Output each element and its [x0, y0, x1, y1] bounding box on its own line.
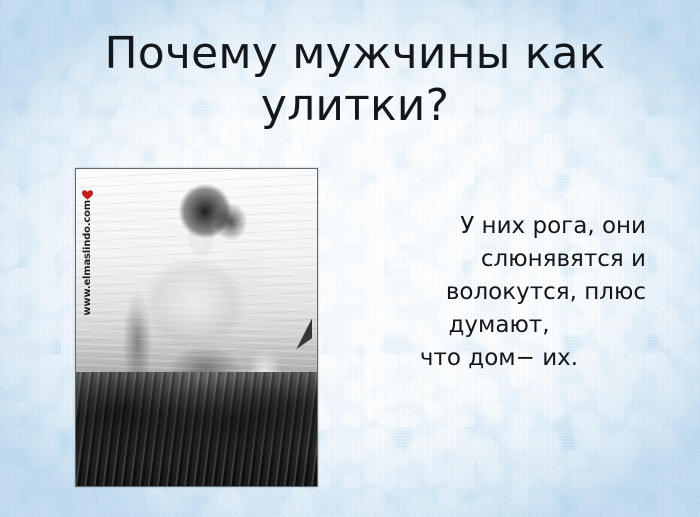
body-line: У них рога, они [352, 210, 646, 243]
photo-watermark: www.elmaslindo.com [79, 185, 95, 477]
slide-body-text: У них рога, они слюнявятся и волокутся, … [352, 210, 646, 375]
body-line: что дом− их. [352, 342, 646, 375]
photo-image [76, 169, 317, 486]
watermark-url: www.elmaslindo.com [82, 200, 93, 316]
photo-foreground-sand [76, 372, 317, 486]
slide-canvas: Почему мужчины как улитки? www.elmaslind… [0, 0, 700, 517]
body-line: слюнявятся и [352, 243, 646, 276]
body-line: думают, [352, 309, 646, 342]
heart-icon [82, 185, 93, 195]
slide-title: Почему мужчины как улитки? [60, 28, 650, 132]
body-line: волокутся, плюс [352, 276, 646, 309]
photo-frame: www.elmaslindo.com [75, 168, 318, 487]
